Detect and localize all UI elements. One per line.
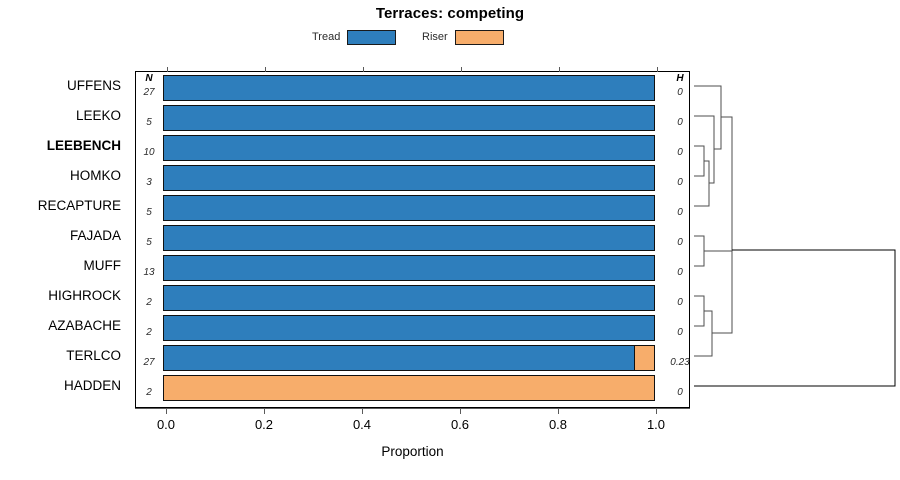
row-n-text: 5 bbox=[136, 207, 162, 218]
row-n-text: 13 bbox=[136, 267, 162, 278]
x-axis-tick bbox=[558, 408, 559, 414]
dendrogram bbox=[690, 60, 900, 420]
y-axis-label: UFFENS bbox=[67, 71, 121, 101]
bar-segment-tread[interactable] bbox=[164, 136, 654, 160]
dendro-link-d bbox=[704, 117, 732, 251]
bar-segment-tread[interactable] bbox=[164, 76, 654, 100]
y-axis-label: HOMKO bbox=[70, 161, 121, 191]
x-axis-tick-label: 0.6 bbox=[435, 417, 485, 432]
x-axis-tick-label: 0.0 bbox=[141, 417, 191, 432]
row-n-value: 2 bbox=[136, 282, 162, 312]
table-row: 130 bbox=[136, 252, 689, 282]
x-axis-line bbox=[135, 408, 690, 409]
dendro-link-lower-pair bbox=[694, 356, 704, 386]
bar-segment-tread[interactable] bbox=[164, 106, 654, 130]
bar-segment-tread[interactable] bbox=[164, 226, 654, 250]
stacked-bar[interactable] bbox=[163, 255, 655, 281]
x-axis-top-tick bbox=[265, 67, 266, 72]
row-n-value: 5 bbox=[136, 102, 162, 132]
x-axis-top-tick bbox=[363, 67, 364, 72]
y-axis-label: LEEKO bbox=[76, 101, 121, 131]
x-axis-tick bbox=[166, 408, 167, 414]
dendro-link-leebench-homko bbox=[694, 146, 704, 176]
x-axis-top-tick bbox=[167, 67, 168, 72]
table-row: 20 bbox=[136, 312, 689, 342]
table-row: 20 bbox=[136, 282, 689, 312]
bar-segment-riser[interactable] bbox=[164, 376, 654, 400]
stacked-bar[interactable] bbox=[163, 285, 655, 311]
row-n-value: 13 bbox=[136, 252, 162, 282]
legend-label-riser: Riser bbox=[422, 31, 448, 43]
x-axis-tick bbox=[264, 408, 265, 414]
table-row: 50 bbox=[136, 102, 689, 132]
x-axis-tick-label: 0.4 bbox=[337, 417, 387, 432]
dendro-link-f bbox=[712, 184, 732, 333]
x-axis-top-tick bbox=[559, 67, 560, 72]
legend-label-tread: Tread bbox=[312, 31, 340, 43]
row-n-value: 10 bbox=[136, 132, 162, 162]
dendro-link-c bbox=[694, 86, 721, 149]
row-n-text: 27 bbox=[136, 357, 162, 368]
x-axis-title: Proportion bbox=[135, 444, 690, 459]
bar-segment-tread[interactable] bbox=[164, 346, 634, 370]
bar-segment-tread[interactable] bbox=[164, 256, 654, 280]
y-axis-labels: UFFENSLEEKOLEEBENCHHOMKORECAPTUREFAJADAM… bbox=[0, 71, 131, 408]
bar-segment-tread[interactable] bbox=[164, 166, 654, 190]
y-axis-label: AZABACHE bbox=[48, 311, 121, 341]
stacked-bar[interactable] bbox=[163, 315, 655, 341]
dendro-link-highrock-azabache bbox=[694, 296, 704, 326]
row-n-text: 2 bbox=[136, 327, 162, 338]
table-row: 50 bbox=[136, 222, 689, 252]
legend-swatch-riser bbox=[455, 30, 504, 45]
page-title: Terraces: competing bbox=[0, 5, 900, 22]
row-n-value: 2 bbox=[136, 372, 162, 402]
x-axis-tick-label: 0.2 bbox=[239, 417, 289, 432]
dendro-link-a bbox=[694, 161, 709, 206]
legend: Tread Riser bbox=[312, 27, 512, 47]
y-axis-label: MUFF bbox=[84, 251, 122, 281]
y-axis-label: HIGHROCK bbox=[48, 281, 121, 311]
row-n-text: 2 bbox=[136, 387, 162, 398]
dendro-link-e bbox=[694, 311, 712, 356]
y-axis-label: RECAPTURE bbox=[38, 191, 121, 221]
x-axis: Proportion 0.00.20.40.60.81.0 bbox=[135, 408, 690, 468]
legend-swatch-tread bbox=[347, 30, 396, 45]
row-n-text: 3 bbox=[136, 177, 162, 188]
row-n-text: 5 bbox=[136, 117, 162, 128]
stacked-bar[interactable] bbox=[163, 195, 655, 221]
row-n-value: 2 bbox=[136, 312, 162, 342]
dendro-link-fajada-muff bbox=[694, 236, 704, 266]
stacked-bar[interactable] bbox=[163, 225, 655, 251]
row-n-text: 2 bbox=[136, 297, 162, 308]
stacked-bar[interactable] bbox=[163, 135, 655, 161]
y-axis-label: LEEBENCH bbox=[47, 131, 121, 161]
y-axis-label: TERLCO bbox=[66, 341, 121, 371]
row-n-text: 27 bbox=[136, 87, 162, 98]
x-axis-tick bbox=[460, 408, 461, 414]
row-n-value: 27 bbox=[136, 72, 162, 102]
stacked-bar[interactable] bbox=[163, 375, 655, 401]
row-n-value: 5 bbox=[136, 222, 162, 252]
table-row: 100 bbox=[136, 132, 689, 162]
bar-segment-tread[interactable] bbox=[164, 286, 654, 310]
x-axis-tick bbox=[362, 408, 363, 414]
x-axis-tick-label: 1.0 bbox=[631, 417, 681, 432]
bar-segment-tread[interactable] bbox=[164, 316, 654, 340]
table-row: 270 bbox=[136, 72, 689, 102]
x-axis-top-tick bbox=[657, 67, 658, 72]
dendro-root-link bbox=[694, 250, 895, 386]
legend-item-tread[interactable]: Tread bbox=[312, 27, 396, 47]
plot-area: N H 270501003050501302020270.2320 bbox=[135, 71, 690, 408]
bar-segment-tread[interactable] bbox=[164, 196, 654, 220]
x-axis-tick bbox=[656, 408, 657, 414]
y-axis-label: FAJADA bbox=[70, 221, 121, 251]
table-row: 50 bbox=[136, 192, 689, 222]
stacked-bar[interactable] bbox=[163, 75, 655, 101]
x-axis-top-tick bbox=[461, 67, 462, 72]
stacked-bar[interactable] bbox=[163, 345, 655, 371]
table-row: 20 bbox=[136, 372, 689, 402]
bar-segment-riser[interactable] bbox=[634, 346, 654, 370]
row-n-value: 3 bbox=[136, 162, 162, 192]
x-axis-tick-label: 0.8 bbox=[533, 417, 583, 432]
dendrogram-svg bbox=[690, 60, 900, 420]
row-n-value: 27 bbox=[136, 342, 162, 372]
table-row: 30 bbox=[136, 162, 689, 192]
row-n-text: 10 bbox=[136, 147, 162, 158]
y-axis-label: HADDEN bbox=[64, 371, 121, 401]
table-row: 270.23 bbox=[136, 342, 689, 372]
stacked-bar[interactable] bbox=[163, 105, 655, 131]
row-n-text: 5 bbox=[136, 237, 162, 248]
stacked-bar[interactable] bbox=[163, 165, 655, 191]
chart-root: Terraces: competing Tread Riser UFFENSLE… bbox=[0, 0, 900, 480]
legend-item-riser[interactable]: Riser bbox=[422, 27, 504, 47]
row-n-value: 5 bbox=[136, 192, 162, 222]
